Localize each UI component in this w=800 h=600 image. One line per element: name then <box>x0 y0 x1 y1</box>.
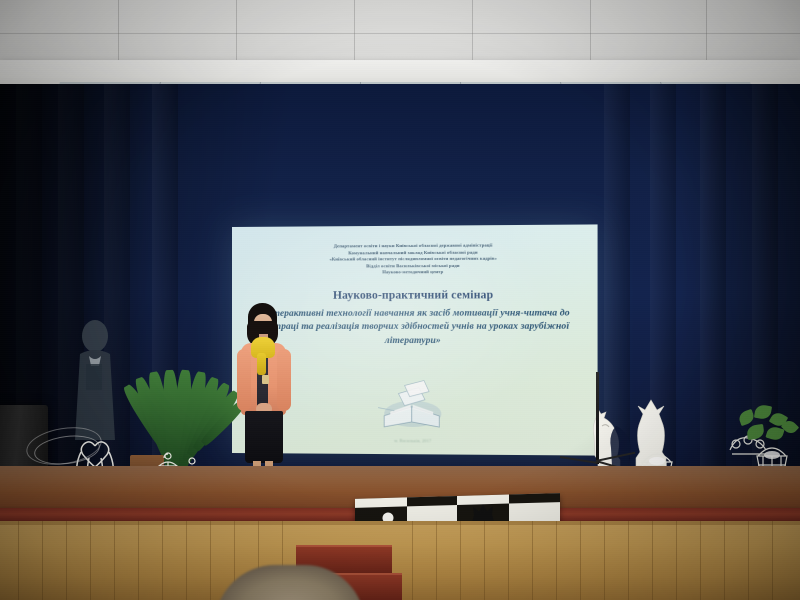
open-book-icon <box>374 377 452 430</box>
presenter-skirt <box>245 411 283 463</box>
photo-scene: Департамент освіти і науки Київської обл… <box>0 0 800 600</box>
slide-header: Департамент освіти і науки Київської обл… <box>254 242 575 277</box>
presenter-arm-right <box>277 349 291 411</box>
presenter-scarf-tail <box>257 353 266 375</box>
slide-header-line-5: Науково-методичний центр <box>254 269 575 277</box>
microphone-stand <box>596 372 599 464</box>
slide-subtitle: «Інтерактивні технології навчання як зас… <box>254 307 575 348</box>
presenter-arm-left <box>237 349 251 411</box>
presenter-badge <box>262 375 269 384</box>
slide-title: Науково-практичний семінар <box>254 289 575 302</box>
ivy-plant-prop <box>735 405 800 467</box>
